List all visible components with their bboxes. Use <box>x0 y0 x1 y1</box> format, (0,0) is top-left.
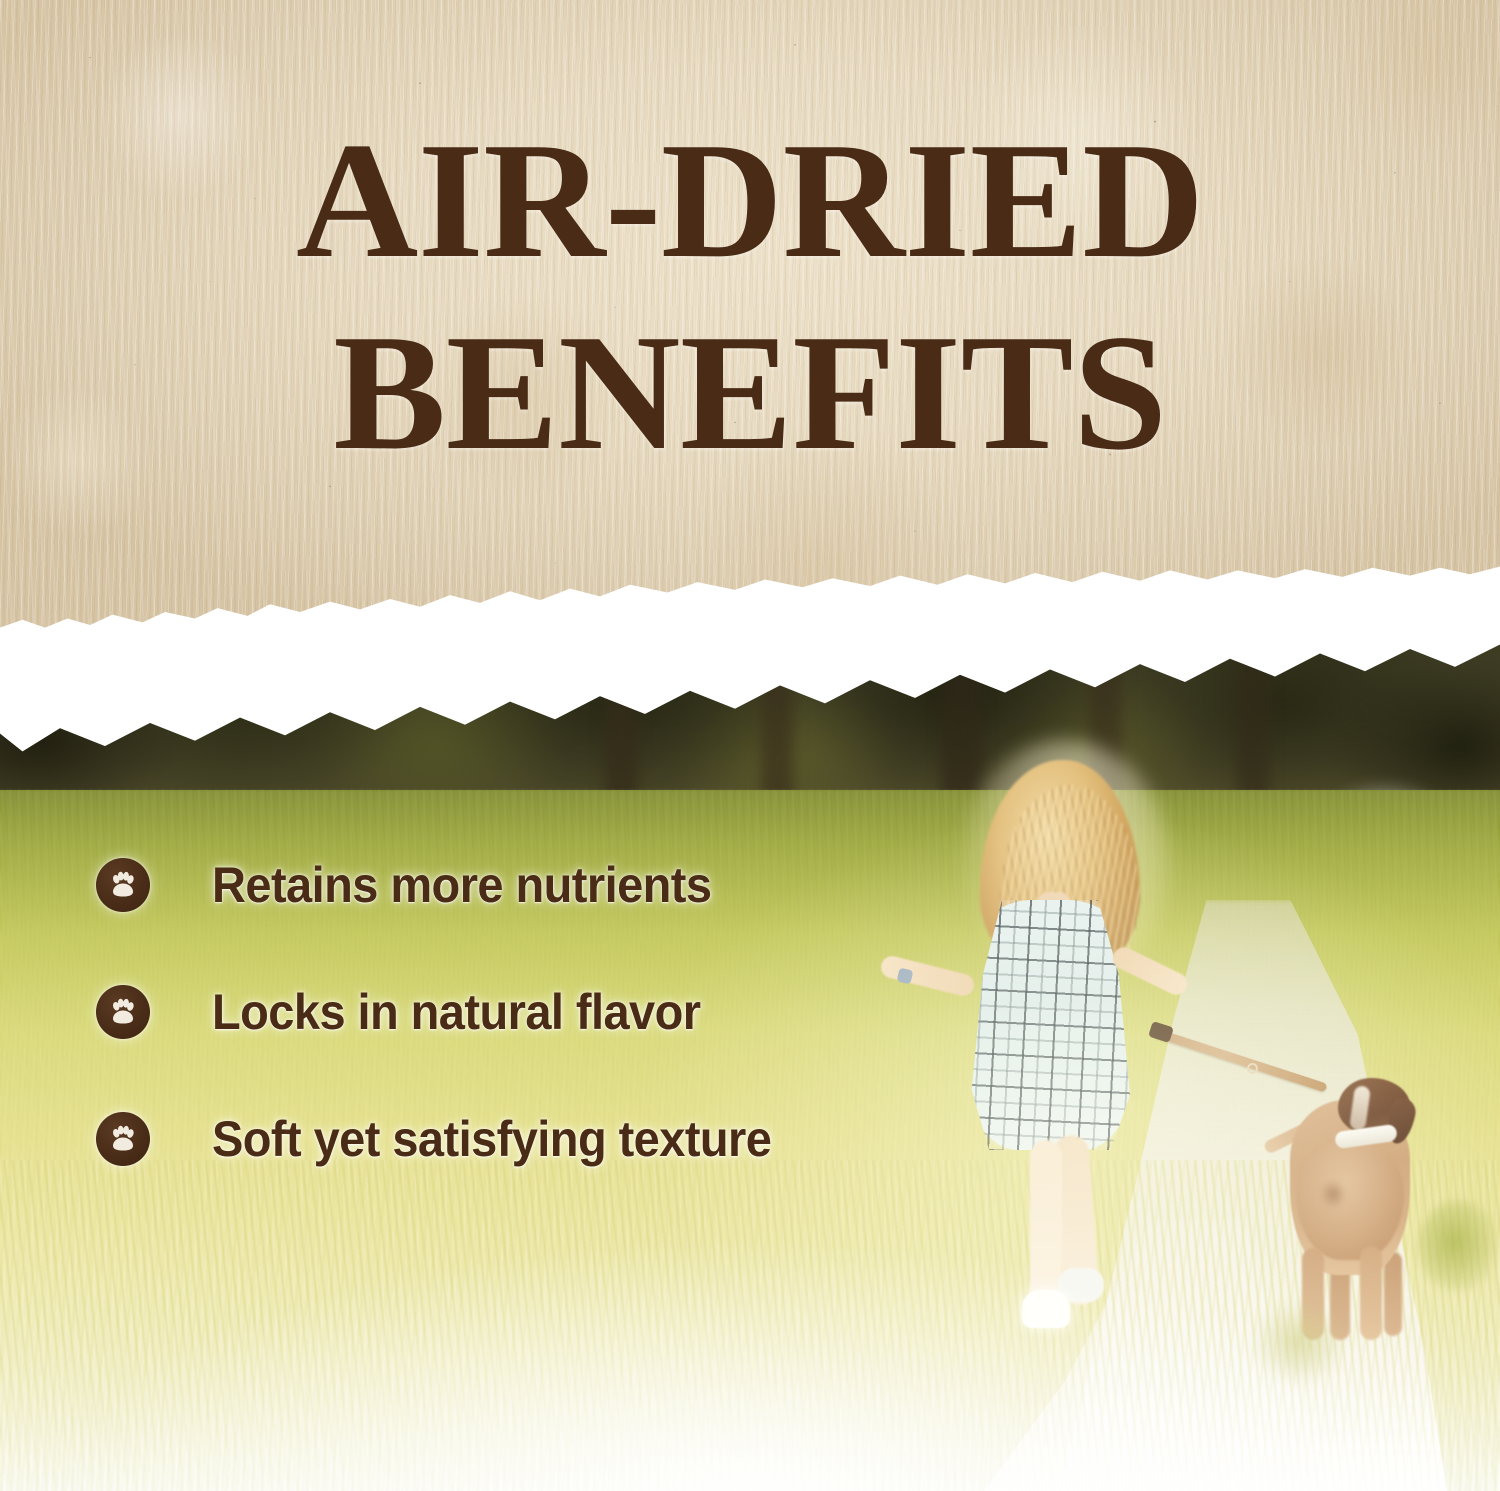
list-item-label: Retains more nutrients <box>212 860 711 911</box>
paw-icon <box>96 985 150 1039</box>
list-item-label: Soft yet satisfying texture <box>212 1114 771 1165</box>
list-item: Retains more nutrients <box>96 858 743 912</box>
benefits-list: Retains more nutrients Locks in natural … <box>0 0 1500 1491</box>
list-item: Soft yet satisfying texture <box>96 1112 807 1166</box>
paw-icon <box>96 1112 150 1166</box>
list-item: Locks in natural flavor <box>96 985 732 1039</box>
list-item-label: Locks in natural flavor <box>212 987 700 1038</box>
paw-icon <box>96 858 150 912</box>
air-dried-benefits-poster: AIR-DRIED BENEFITS <box>0 0 1500 1491</box>
